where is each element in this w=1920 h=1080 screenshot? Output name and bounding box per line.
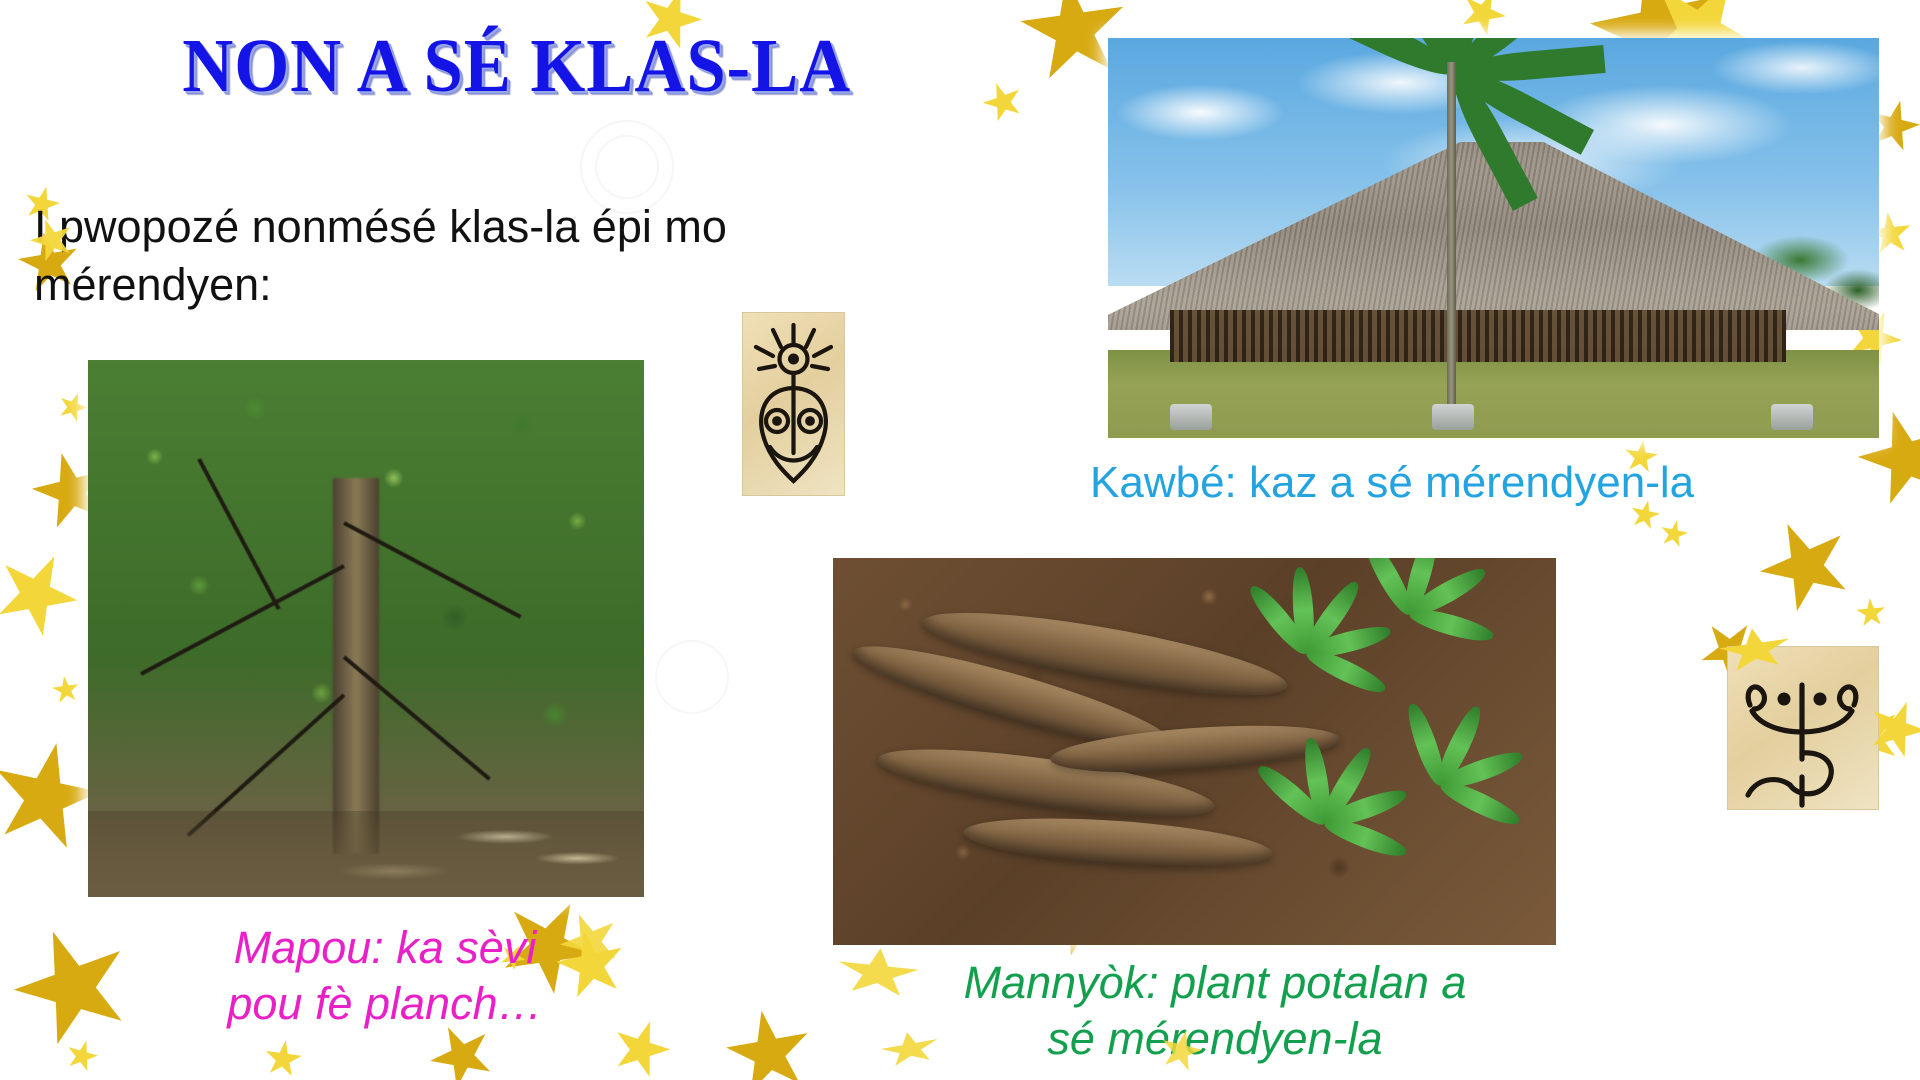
cassava-leaves	[1252, 558, 1556, 945]
photo-inner	[88, 360, 644, 897]
cassava-leaf	[1322, 814, 1410, 862]
tree-branch	[197, 458, 280, 610]
petroglyph-figure-icon	[1727, 646, 1879, 810]
star-decoration	[262, 1038, 305, 1080]
star-decoration	[0, 538, 92, 650]
star-decoration	[1855, 597, 1888, 630]
page-title: NON A SÉ KLAS-LA	[140, 28, 893, 104]
star-decoration	[54, 388, 92, 426]
planter-pot	[1170, 404, 1212, 430]
petroglyph-figure-svg	[1728, 647, 1878, 809]
mapou-tree-photo	[88, 360, 644, 897]
photo-inner	[1108, 38, 1879, 438]
cassava-leaf	[1408, 605, 1496, 647]
thatched-house-photo	[1108, 38, 1879, 438]
watermark-swirl	[595, 135, 659, 199]
star-decoration	[1745, 505, 1866, 626]
star-decoration	[50, 674, 82, 706]
petroglyph-face-icon	[742, 312, 845, 496]
photo-inner	[833, 558, 1556, 945]
planter-pot	[1432, 404, 1474, 430]
star-decoration	[0, 911, 149, 1062]
caption-kawbe: Kawbé: kaz a sé mérendyen-la	[1090, 458, 1890, 509]
caption-mapou: Mapou: ka sèvi pou fè planch…	[150, 920, 620, 1033]
palm-trunk	[1447, 62, 1456, 414]
star-decoration	[977, 76, 1028, 127]
star-decoration	[719, 1003, 819, 1080]
house-wall	[1170, 310, 1787, 362]
slide-canvas: NON A SÉ KLAS-LA I pwopozé nonmésé klas-…	[0, 0, 1920, 1080]
caption-mannyok: Mannyòk: plant potalan a sé mérendyen-la	[845, 955, 1585, 1068]
star-decoration	[1657, 517, 1690, 550]
body-paragraph: I pwopozé nonmésé klas-la épi mo mérendy…	[34, 198, 964, 313]
petroglyph-face-svg	[743, 313, 844, 495]
cassava-leaf	[1436, 776, 1522, 830]
tree-branch	[140, 564, 345, 676]
star-decoration	[62, 1036, 102, 1076]
cassava-photo	[833, 558, 1556, 945]
tree-roots	[88, 811, 644, 897]
watermark-swirl	[655, 640, 729, 714]
grass-region	[1108, 350, 1879, 438]
planter-pot	[1771, 404, 1813, 430]
